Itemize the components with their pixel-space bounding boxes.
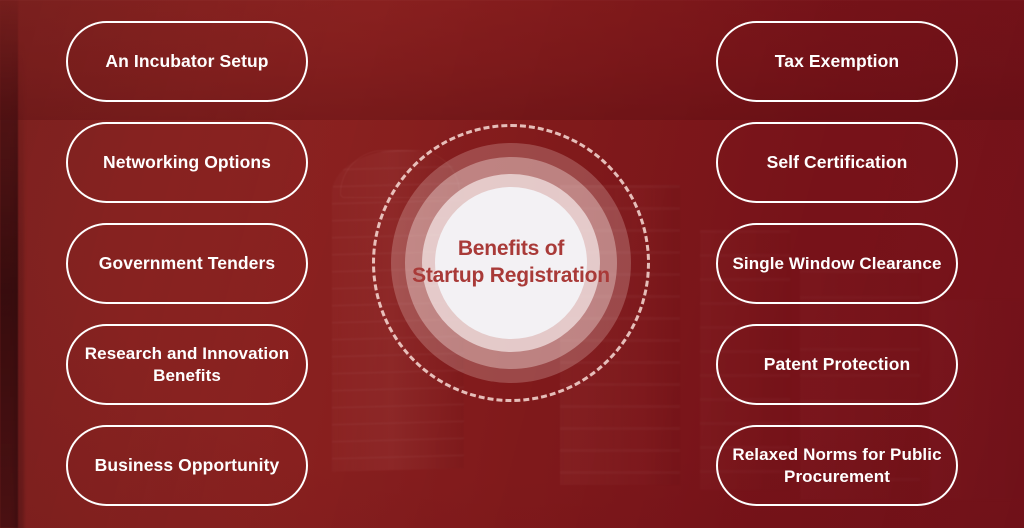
benefit-label: Networking Options xyxy=(103,152,271,174)
benefit-label: Patent Protection xyxy=(764,354,911,376)
benefit-pill-single-window-clearance[interactable]: Single Window Clearance xyxy=(716,223,958,304)
emblem-title-line-2: Startup Registration xyxy=(361,263,661,290)
benefit-label: Government Tenders xyxy=(99,253,276,275)
left-benefits-column: An Incubator Setup Networking Options Go… xyxy=(66,21,308,506)
benefit-pill-relaxed-norms-public-procurement[interactable]: Relaxed Norms for Public Procurement xyxy=(716,425,958,506)
benefit-label: Research and Innovation Benefits xyxy=(82,343,292,386)
benefit-label: Self Certification xyxy=(767,152,908,174)
benefit-label: An Incubator Setup xyxy=(105,51,268,73)
benefit-pill-government-tenders[interactable]: Government Tenders xyxy=(66,223,308,304)
benefit-label: Tax Exemption xyxy=(775,51,899,73)
benefit-pill-incubator-setup[interactable]: An Incubator Setup xyxy=(66,21,308,102)
benefit-label: Business Opportunity xyxy=(95,455,280,477)
benefit-pill-research-innovation-benefits[interactable]: Research and Innovation Benefits xyxy=(66,324,308,405)
benefit-pill-networking-options[interactable]: Networking Options xyxy=(66,122,308,203)
benefit-pill-business-opportunity[interactable]: Business Opportunity xyxy=(66,425,308,506)
benefit-pill-tax-exemption[interactable]: Tax Exemption xyxy=(716,21,958,102)
emblem-title-line-1: Benefits of xyxy=(458,237,564,260)
emblem-title: Benefits of Startup Registration xyxy=(361,236,661,290)
benefit-pill-self-certification[interactable]: Self Certification xyxy=(716,122,958,203)
benefit-label: Single Window Clearance xyxy=(732,253,941,274)
benefit-pill-patent-protection[interactable]: Patent Protection xyxy=(716,324,958,405)
benefit-label: Relaxed Norms for Public Procurement xyxy=(732,444,942,487)
right-benefits-column: Tax Exemption Self Certification Single … xyxy=(716,21,958,506)
startup-benefits-infographic: An Incubator Setup Networking Options Go… xyxy=(0,0,1024,528)
